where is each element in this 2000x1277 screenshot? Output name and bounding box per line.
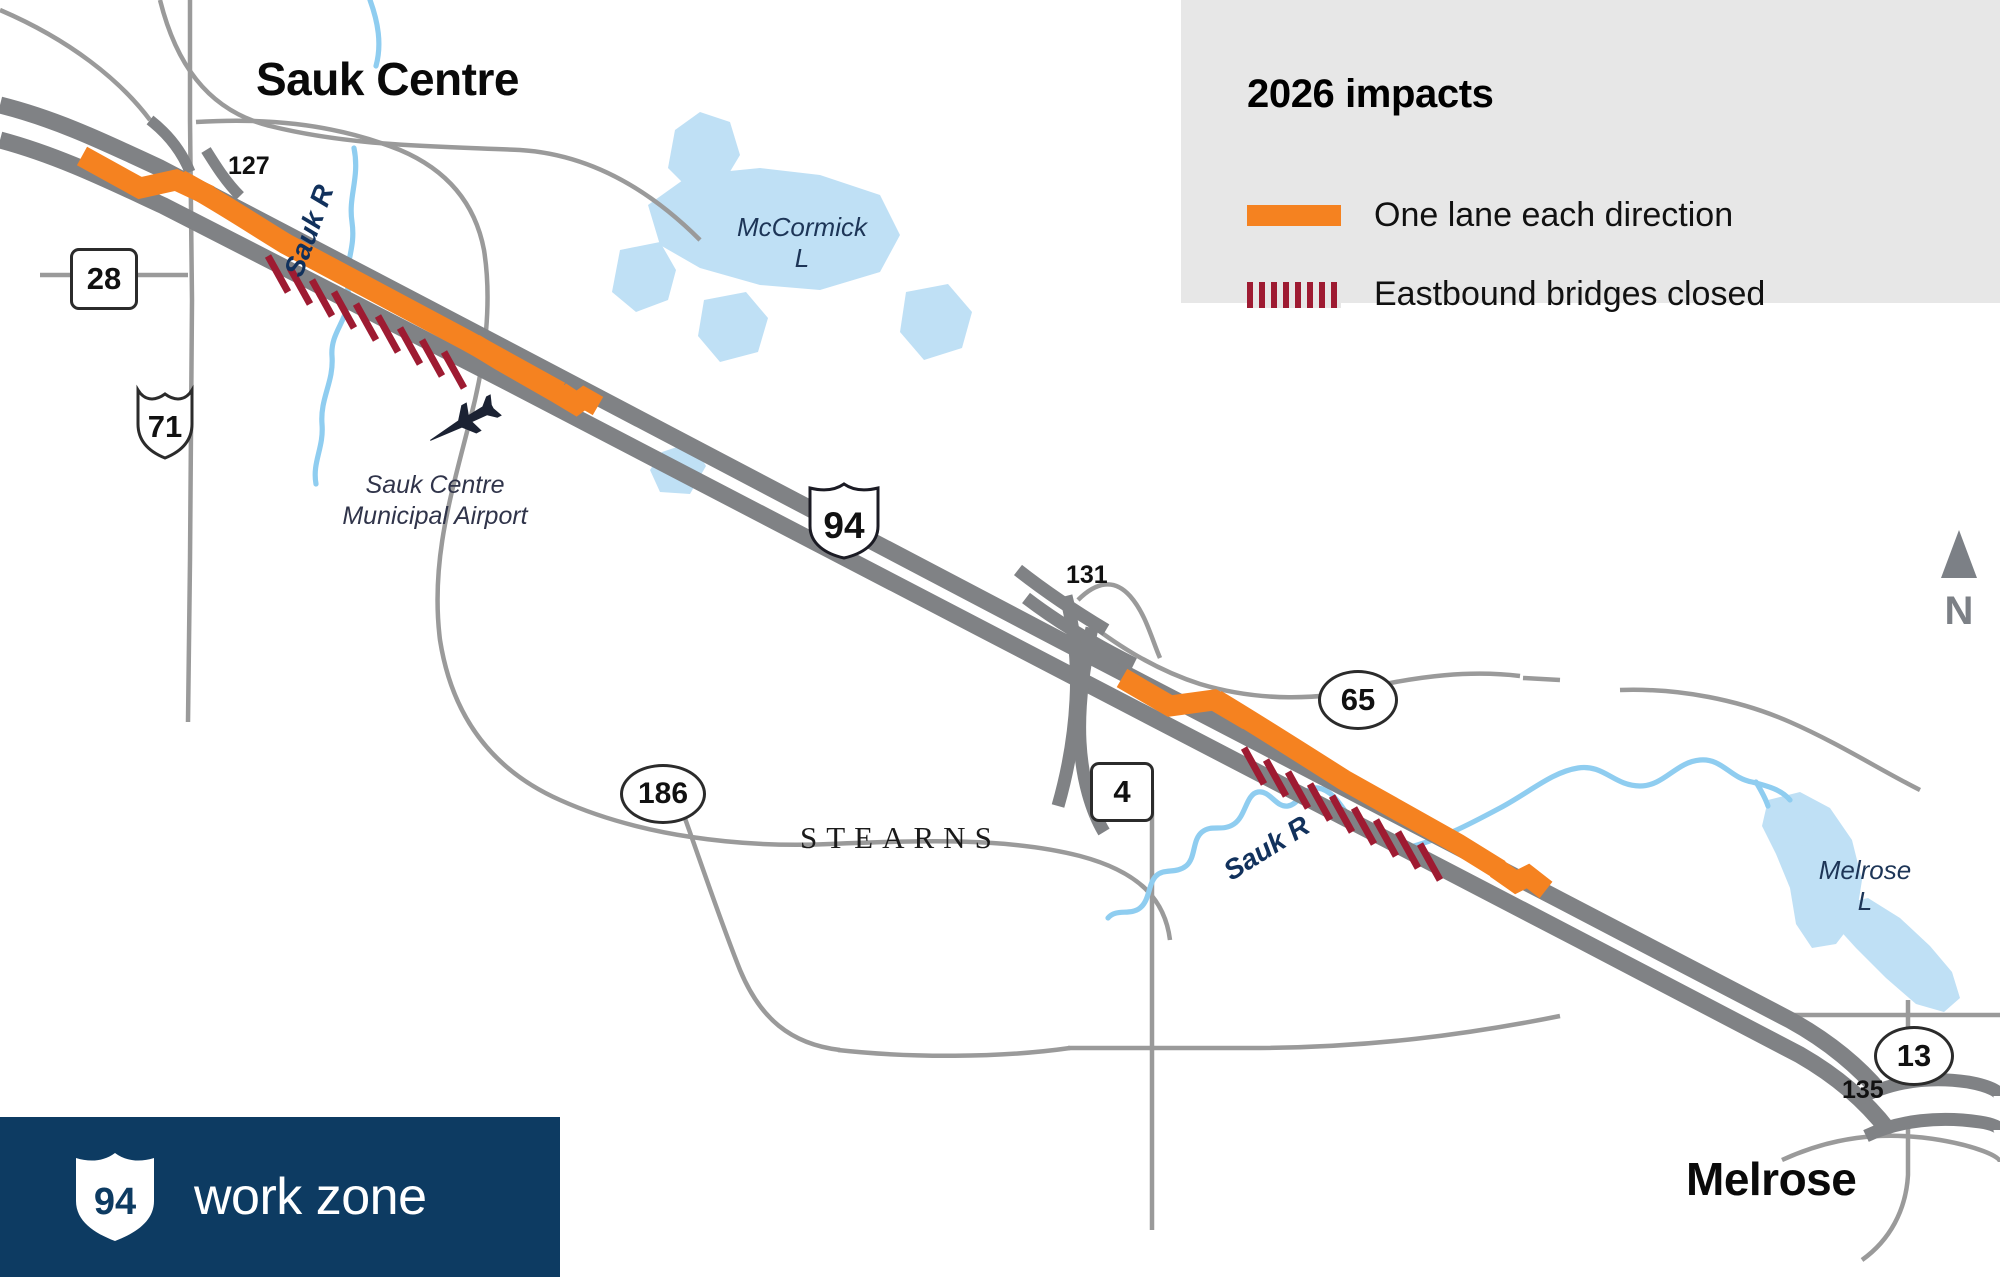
compass-north: N: [1937, 528, 1981, 631]
north-arrow-icon: [1937, 528, 1981, 586]
route-shield-4[interactable]: 4: [1090, 762, 1154, 822]
route-shield-number: 13: [1877, 1029, 1951, 1083]
exit-number-131: 131: [1066, 561, 1108, 590]
route-shield-28[interactable]: 28: [70, 248, 138, 310]
legend-item-one-lane: One lane each direction: [1247, 196, 1733, 235]
banner-shield-icon: 94: [72, 1151, 158, 1243]
exit-number-127: 127: [228, 152, 270, 181]
route-shield-number: 186: [623, 767, 703, 821]
route-shield-13[interactable]: 13: [1874, 1026, 1954, 1086]
airport-name-line2: Municipal Airport: [330, 501, 540, 532]
banner-label: work zone: [194, 1167, 427, 1227]
route-shield-number: 94: [806, 482, 882, 560]
legend-swatch-orange-bar: [1247, 205, 1341, 226]
route-shield-65[interactable]: 65: [1318, 670, 1398, 730]
route-shield-71[interactable]: 71: [128, 384, 202, 462]
route-shield-number: 65: [1321, 673, 1395, 727]
route-shield-number: 4: [1093, 765, 1151, 819]
map-canvas: Sauk Centre Melrose STEARNS McCormick L …: [0, 0, 2000, 1277]
route-shield-number: 28: [73, 251, 135, 307]
legend-panel: 2026 impacts One lane each direction Eas…: [1181, 0, 2000, 303]
compass-label: N: [1937, 591, 1981, 631]
route-shield-number: 71: [128, 384, 202, 462]
legend-item-label: Eastbound bridges closed: [1374, 275, 1765, 314]
legend-item-label: One lane each direction: [1374, 196, 1733, 235]
route-shield-186[interactable]: 186: [620, 764, 706, 824]
legend-swatch-hatch-bar: [1247, 282, 1341, 308]
legend-title: 2026 impacts: [1247, 72, 1493, 117]
legend-item-bridges-closed: Eastbound bridges closed: [1247, 275, 1765, 314]
route-shield-i94[interactable]: 94: [806, 482, 882, 560]
place-label-sauk-centre-airport: Sauk Centre Municipal Airport: [330, 470, 540, 531]
airport-name-line1: Sauk Centre: [330, 470, 540, 501]
banner-shield-number: 94: [72, 1151, 158, 1243]
work-zone-banner: 94 work zone: [0, 1117, 560, 1277]
